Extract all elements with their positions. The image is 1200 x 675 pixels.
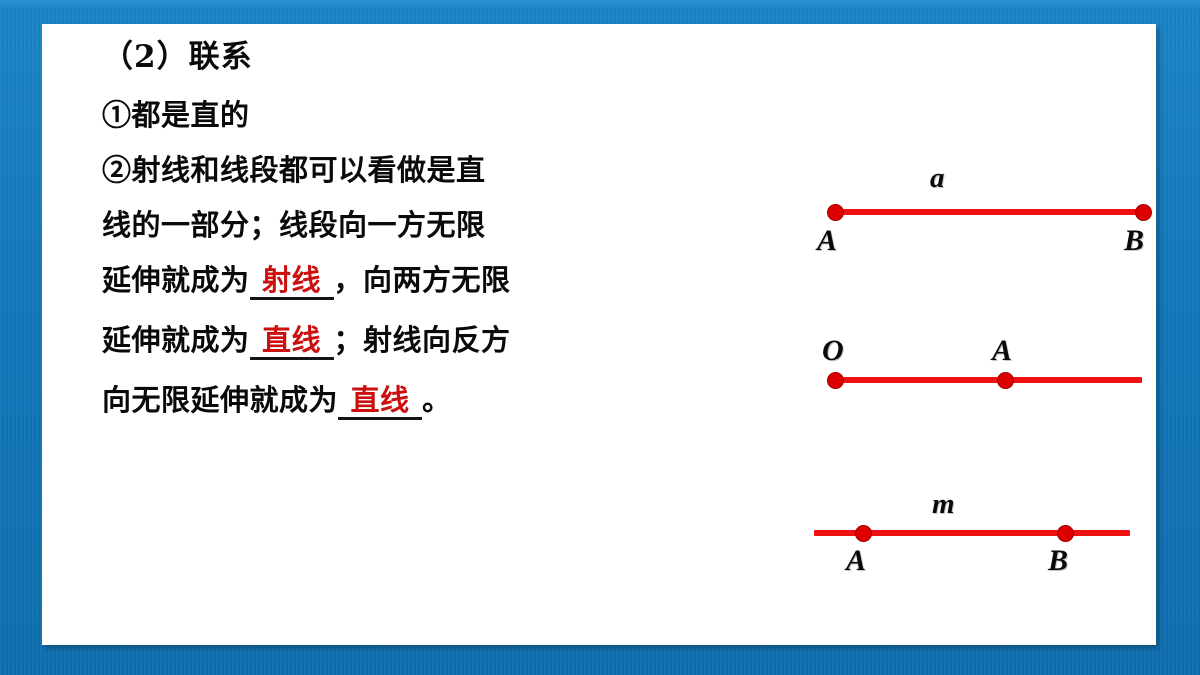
- figure-line-label-A: A: [846, 546, 866, 576]
- figure-segment-line: [834, 209, 1142, 215]
- body-line-4-text-before: 延伸就成为: [102, 263, 250, 297]
- figure-segment-label-A: A: [817, 226, 837, 256]
- body-line-3: 线的一部分；线段向一方无限: [102, 211, 722, 240]
- figure-segment-endpoint-b: [1135, 204, 1152, 221]
- body-line-5: 延伸就成为直线；射线向反方: [102, 326, 722, 360]
- body-line-3-text: 线的一部分；线段向一方无限: [102, 208, 486, 242]
- figure-ray-label-A: A: [992, 336, 1012, 366]
- fill-in-blank-straight-line-2[interactable]: 直线: [338, 386, 422, 420]
- body-line-5-text-before: 延伸就成为: [102, 323, 250, 357]
- figure-ray-origin-O: [827, 372, 844, 389]
- body-line-1: ①都是直的: [102, 101, 722, 130]
- body-line-6-text-after: 。: [422, 383, 452, 417]
- body-line-4-text-after: ，向两方无限: [334, 263, 511, 297]
- figure-straight-line: m A B: [742, 484, 1156, 574]
- figure-ray-line: [834, 377, 1142, 383]
- body-line-2-text: ②射线和线段都可以看做是直: [102, 153, 486, 187]
- body-line-6: 向无限延伸就成为直线。: [102, 386, 722, 420]
- figure-ray: O A: [742, 324, 1156, 414]
- figure-line-label-B: B: [1048, 546, 1068, 576]
- figure-segment-name-label: a: [930, 164, 945, 193]
- text-column: （2）联系 ①都是直的 ②射线和线段都可以看做是直 线的一部分；线段向一方无限 …: [102, 42, 722, 446]
- figure-column: a A B O A m A B: [742, 24, 1156, 645]
- figure-line-segment: a A B: [742, 164, 1156, 254]
- figure-line-point-B: [1057, 525, 1074, 542]
- body-line-5-text-after: ；射线向反方: [334, 323, 511, 357]
- figure-line-point-A: [855, 525, 872, 542]
- body-line-1-text: ①都是直的: [102, 98, 250, 132]
- body-line-2: ②射线和线段都可以看做是直: [102, 156, 722, 185]
- content-panel: （2）联系 ①都是直的 ②射线和线段都可以看做是直 线的一部分；线段向一方无限 …: [42, 24, 1156, 645]
- figure-line-name-label: m: [932, 490, 955, 519]
- figure-ray-label-O: O: [822, 336, 844, 366]
- body-line-6-text-before: 向无限延伸就成为: [102, 383, 338, 417]
- page-title: （2）联系: [102, 42, 722, 73]
- figure-segment-endpoint-a: [827, 204, 844, 221]
- figure-ray-point-A: [997, 372, 1014, 389]
- frame-top-highlight: [0, 0, 1200, 10]
- fill-in-blank-ray[interactable]: 射线: [250, 266, 334, 300]
- body-line-4: 延伸就成为射线，向两方无限: [102, 266, 722, 300]
- fill-in-blank-straight-line-1[interactable]: 直线: [250, 326, 334, 360]
- figure-segment-label-B: B: [1124, 226, 1144, 256]
- slide-canvas: （2）联系 ①都是直的 ②射线和线段都可以看做是直 线的一部分；线段向一方无限 …: [0, 0, 1200, 675]
